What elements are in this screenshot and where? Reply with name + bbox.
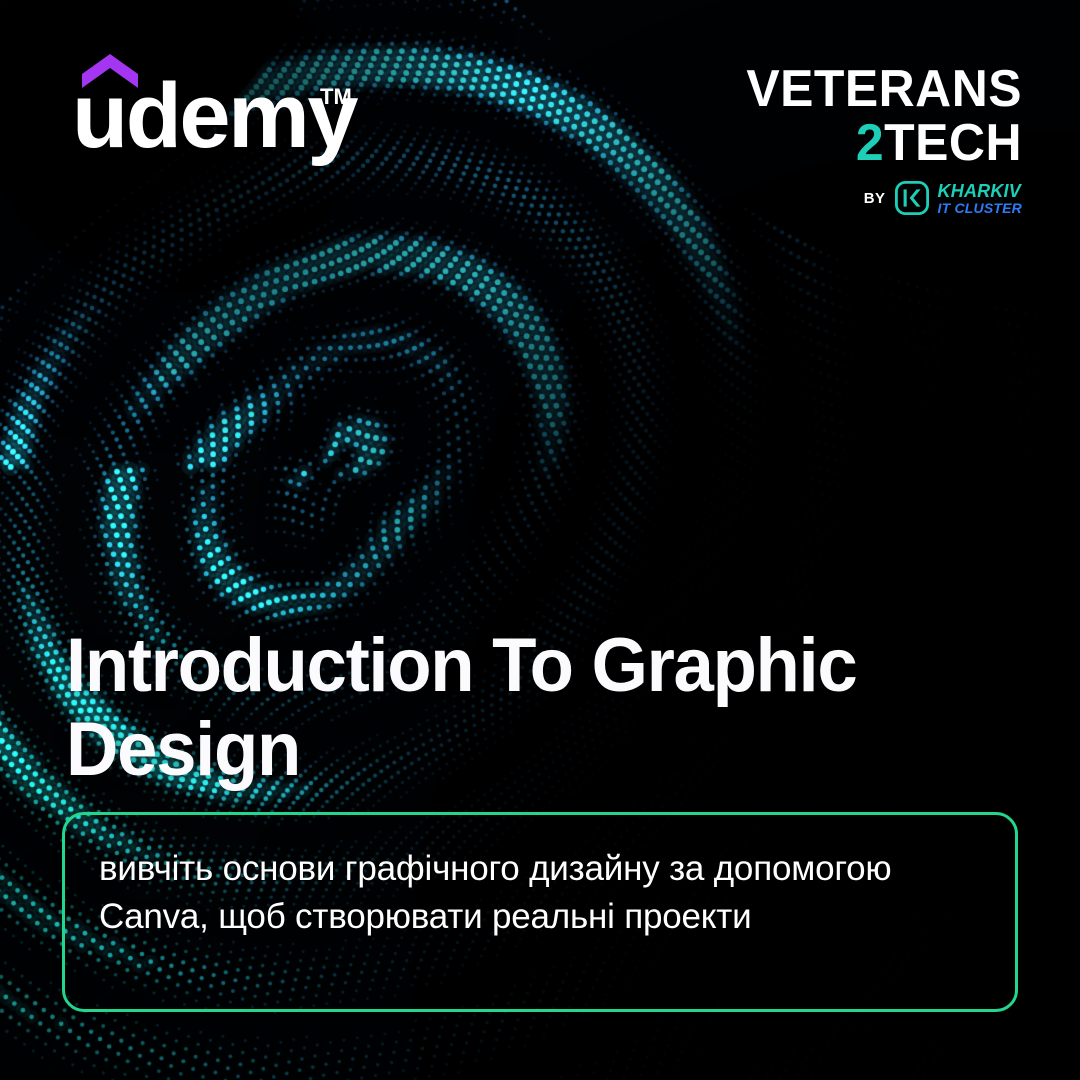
veterans2tech-logo: VETERANS 2TECH BY KHARKIV IT CLUSTER xyxy=(662,64,1022,215)
partner-name-group: KHARKIV IT CLUSTER xyxy=(938,182,1022,215)
veterans2tech-line-one: VETERANS xyxy=(676,64,1022,114)
course-title: Introduction To Graphic Design xyxy=(66,624,954,792)
udemy-wordmark-group: udemy TM xyxy=(72,54,320,150)
course-subtitle: вивчіть основи графічного дизайну за доп… xyxy=(99,845,981,941)
veterans2tech-number: 2 xyxy=(856,114,884,172)
promo-poster: udemy TM VETERANS 2TECH BY KHARKIV IT CL… xyxy=(0,0,1080,1080)
course-subtitle-box: вивчіть основи графічного дизайну за доп… xyxy=(62,812,1018,1012)
udemy-logo: udemy TM xyxy=(72,54,320,150)
udemy-trademark-symbol: TM xyxy=(320,84,352,110)
poster-header: udemy TM VETERANS 2TECH BY KHARKIV IT CL… xyxy=(0,0,1080,250)
kharkiv-it-cluster-mark-icon xyxy=(895,181,929,215)
title-block: Introduction To Graphic Design xyxy=(66,624,996,792)
partner-subtitle: IT CLUSTER xyxy=(938,201,1022,215)
partner-attribution: BY KHARKIV IT CLUSTER xyxy=(662,181,1022,215)
veterans2tech-tech-word: TECH xyxy=(884,114,1022,172)
by-label: BY xyxy=(864,190,886,207)
veterans2tech-line-two: 2TECH xyxy=(676,116,1022,170)
partner-name: KHARKIV xyxy=(938,182,1022,200)
udemy-wordmark: udemy xyxy=(72,70,356,162)
